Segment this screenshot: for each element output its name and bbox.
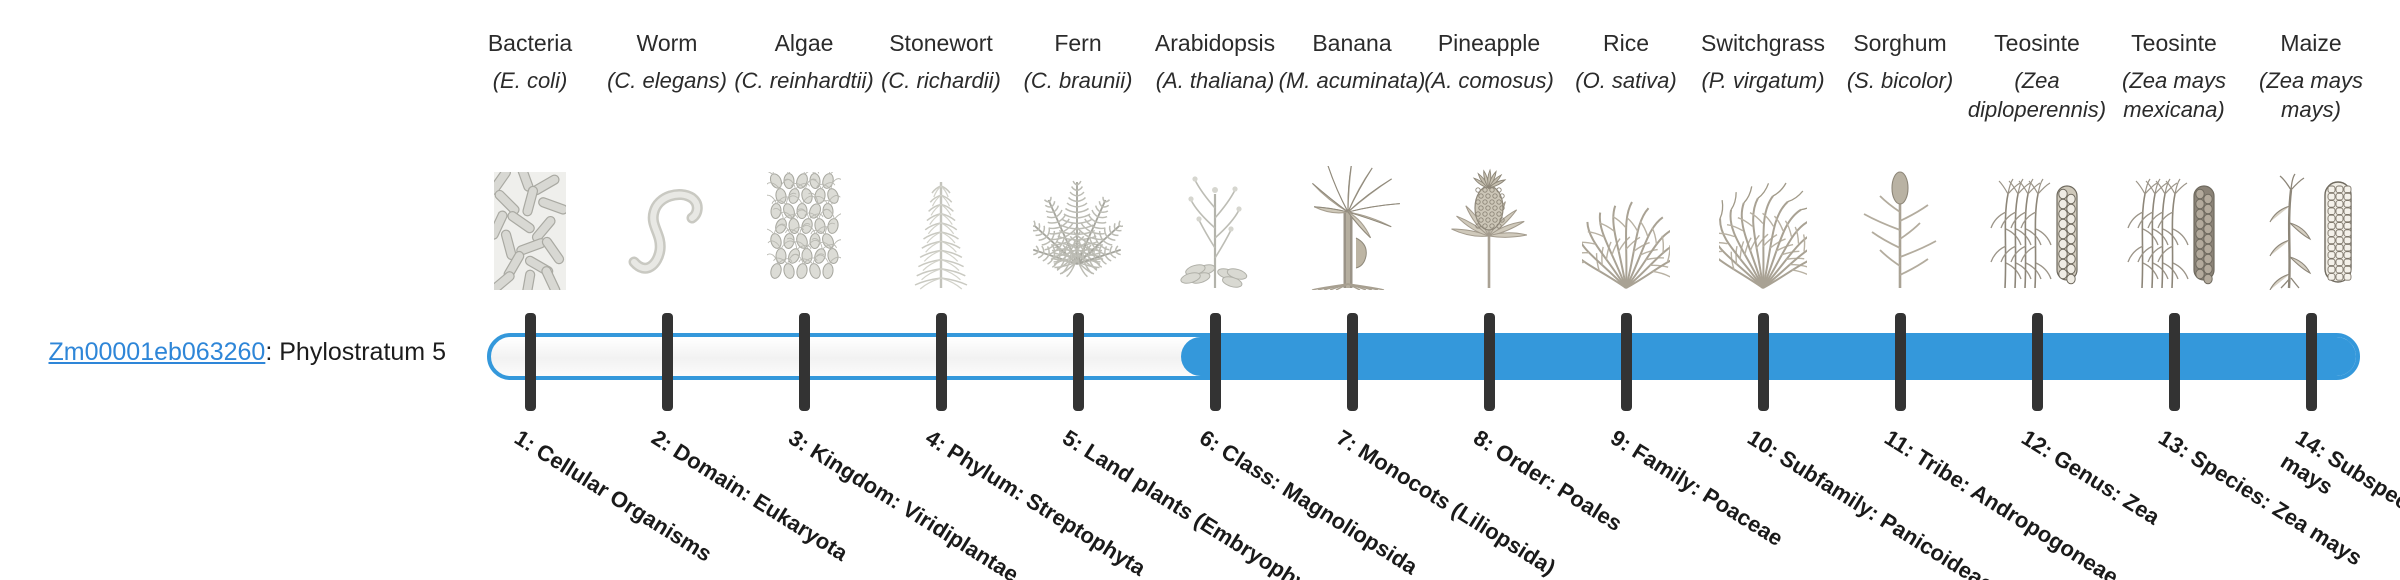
species-scientific-name: (Zea diploperennis) [1962,66,2112,124]
species-column: Banana(M. acuminata) [1277,28,1427,124]
species-column: Algae(C. reinhardtii) [729,28,879,124]
species-column: Fern(C. braunii) [1003,28,1153,124]
species-scientific-name: (A. comosus) [1414,66,1564,124]
phylostratum-tick [1073,313,1084,411]
rice-icon [1551,170,1701,290]
species-common-name: Worm [592,28,742,58]
phylostratum-bar-track[interactable] [487,333,2360,380]
species-column: Switchgrass(P. virgatum) [1688,28,1838,124]
species-common-name: Pineapple [1414,28,1564,58]
species-scientific-name: (Zea mays mexicana) [2099,66,2249,124]
species-column: Sorghum(S. bicolor) [1825,28,1975,124]
phylostratum-value-text: Phylostratum 5 [279,338,446,366]
phylostratum-tick [2032,313,2043,411]
sorghum-icon [1825,170,1975,290]
teosinte-mex-icon [2099,170,2249,290]
phylostratum-tick [1210,313,1221,411]
species-common-name: Bacteria [455,28,605,58]
species-scientific-name: (S. bicolor) [1825,66,1975,124]
species-column: Bacteria(E. coli) [455,28,605,124]
phylostratum-tick [525,313,536,411]
species-common-name: Teosinte [1962,28,2112,58]
pineapple-icon [1414,170,1564,290]
species-column: Teosinte(Zea mays mexicana) [2099,28,2249,124]
fern-icon [1003,170,1153,290]
species-common-name: Switchgrass [1688,28,1838,58]
phylostratum-tick [2306,313,2317,411]
arabidopsis-icon [1140,170,1290,290]
species-scientific-name: (C. reinhardtii) [729,66,879,124]
gene-phylostratum-label: Zm00001eb063260: Phylostratum 5 [0,337,460,367]
species-scientific-name: (M. acuminata) [1277,66,1427,124]
species-scientific-name: (C. braunii) [1003,66,1153,124]
species-column: Worm(C. elegans) [592,28,742,124]
bacteria-icon [455,170,605,290]
species-scientific-name: (E. coli) [455,66,605,124]
phylostratum-tick [799,313,810,411]
species-scientific-name: (O. sativa) [1551,66,1701,124]
species-common-name: Banana [1277,28,1427,58]
species-common-name: Sorghum [1825,28,1975,58]
species-common-name: Teosinte [2099,28,2249,58]
phylostratum-tick [1758,313,1769,411]
species-column: Stonewort(C. richardii) [866,28,1016,124]
worm-icon [592,170,742,290]
species-scientific-name: (P. virgatum) [1688,66,1838,124]
species-scientific-name: (C. richardii) [866,66,1016,124]
species-scientific-name: (A. thaliana) [1140,66,1290,124]
gene-id-link[interactable]: Zm00001eb063260 [48,338,265,366]
phylostratum-tick [1484,313,1495,411]
species-common-name: Algae [729,28,879,58]
banana-icon [1277,170,1427,290]
teosinte-diplo-icon [1962,170,2112,290]
species-scientific-name: (C. elegans) [592,66,742,124]
phylostratum-tick [1347,313,1358,411]
phylostratum-tick [1895,313,1906,411]
species-column: Maize(Zea mays mays) [2236,28,2386,124]
species-column: Teosinte(Zea diploperennis) [1962,28,2112,124]
species-common-name: Arabidopsis [1140,28,1290,58]
species-common-name: Stonewort [866,28,1016,58]
species-common-name: Rice [1551,28,1701,58]
algae-icon [729,170,879,290]
phylostratum-tick [1621,313,1632,411]
species-common-name: Fern [1003,28,1153,58]
phylostratum-tick [662,313,673,411]
species-column: Rice(O. sativa) [1551,28,1701,124]
species-scientific-name: (Zea mays mays) [2236,66,2386,124]
switchgrass-icon [1688,170,1838,290]
species-column: Arabidopsis(A. thaliana) [1140,28,1290,124]
phylostratum-timeline-figure: Zm00001eb063260: Phylostratum 5 Bacteria… [0,0,2400,580]
species-column: Pineapple(A. comosus) [1414,28,1564,124]
species-common-name: Maize [2236,28,2386,58]
maize-icon [2236,170,2386,290]
phylostratum-tick [2169,313,2180,411]
gene-label-separator: : [265,338,279,366]
stonewort-icon [866,170,1016,290]
phylostratum-tick [936,313,947,411]
